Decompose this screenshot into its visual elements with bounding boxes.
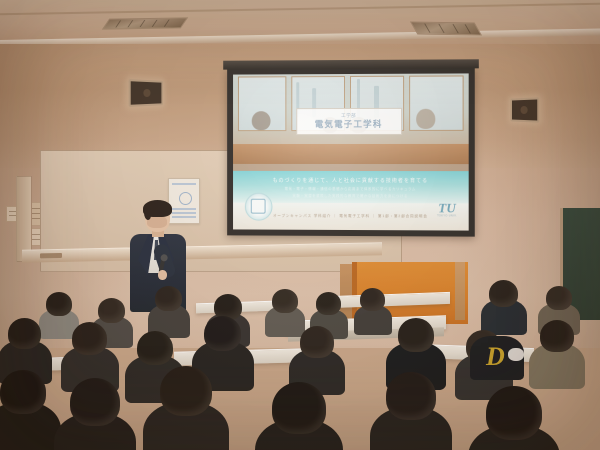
audience-member-head: [155, 286, 182, 311]
door-edge: [455, 262, 465, 320]
slide-headline: ものづくりを通じて、人と社会に貢献する技術者を育てる: [273, 176, 429, 183]
wall-speaker-icon: [510, 97, 539, 122]
ceiling-vent-icon: [410, 21, 482, 35]
slide-footer-text: オープンキャンパス 学科紹介 ｜ 電気電子工学科 ｜ 第1部・第2部合同説明会: [273, 214, 428, 220]
audience-member-head: [360, 288, 385, 311]
audience-member-head: [272, 289, 298, 313]
ceiling-vent-icon: [102, 17, 188, 29]
audience-member-head: [272, 382, 326, 434]
audience-member-head: [70, 378, 120, 426]
audience-member-head: [486, 386, 542, 440]
audience-member-head: [46, 292, 72, 316]
projection-screen: 工学部 電気電子工学科 ものづくりを通じて、人と社会に貢献する技術者を育てる 電…: [227, 67, 475, 236]
presenter-hand: [158, 270, 167, 280]
student-wearing-face-mask: [508, 348, 524, 361]
audience-member-head: [540, 320, 574, 352]
audience-member-head: [8, 318, 41, 349]
audience-member-head: [398, 318, 434, 352]
audience-member-head: [72, 322, 107, 355]
slide-subline-2: 実験・実習を重視した実践的な教育で確かな技術力を身につける: [292, 192, 408, 197]
slide-subline-1: 電気・電子・情報・通信の基礎から応用まで体系的に学べるカリキュラム: [285, 185, 416, 190]
audience-member-head: [300, 326, 334, 358]
slide-photo-lab: 工学部 電気電子工学科: [233, 73, 469, 170]
slide-banner: 工学部 電気電子工学科: [296, 108, 402, 135]
audience-member-head: [386, 372, 436, 420]
audience-member-head: [137, 331, 173, 365]
tu-logo-mark: TU: [438, 201, 456, 214]
slide-banner-main-text: 電気電子工学科: [315, 120, 383, 129]
audience-member-head: [204, 316, 241, 351]
audience-member-head: [546, 286, 572, 310]
shirt-logo-glyph: D: [486, 344, 505, 370]
lecture-hall-photo: 工学部 電気電子工学科 ものづくりを通じて、人と社会に貢献する技術者を育てる 電…: [0, 0, 600, 450]
tu-logo-icon: TU TOKYO UNIV.: [435, 196, 459, 222]
audience-member-head: [0, 370, 46, 414]
audience-member-head: [489, 280, 518, 307]
audience-member-head: [316, 292, 341, 315]
tu-logo-caption: TOKYO UNIV.: [437, 215, 457, 218]
audience-member-head: [98, 298, 125, 323]
wall-speaker-icon: [129, 79, 163, 107]
audience-member-head: [160, 366, 212, 416]
university-seal-icon: [245, 192, 273, 220]
presenter-hair: [143, 200, 172, 217]
screen-roller-housing: [223, 59, 479, 69]
projected-slide: 工学部 電気電子工学科 ものづくりを通じて、人と社会に貢献する技術者を育てる 電…: [233, 73, 469, 230]
